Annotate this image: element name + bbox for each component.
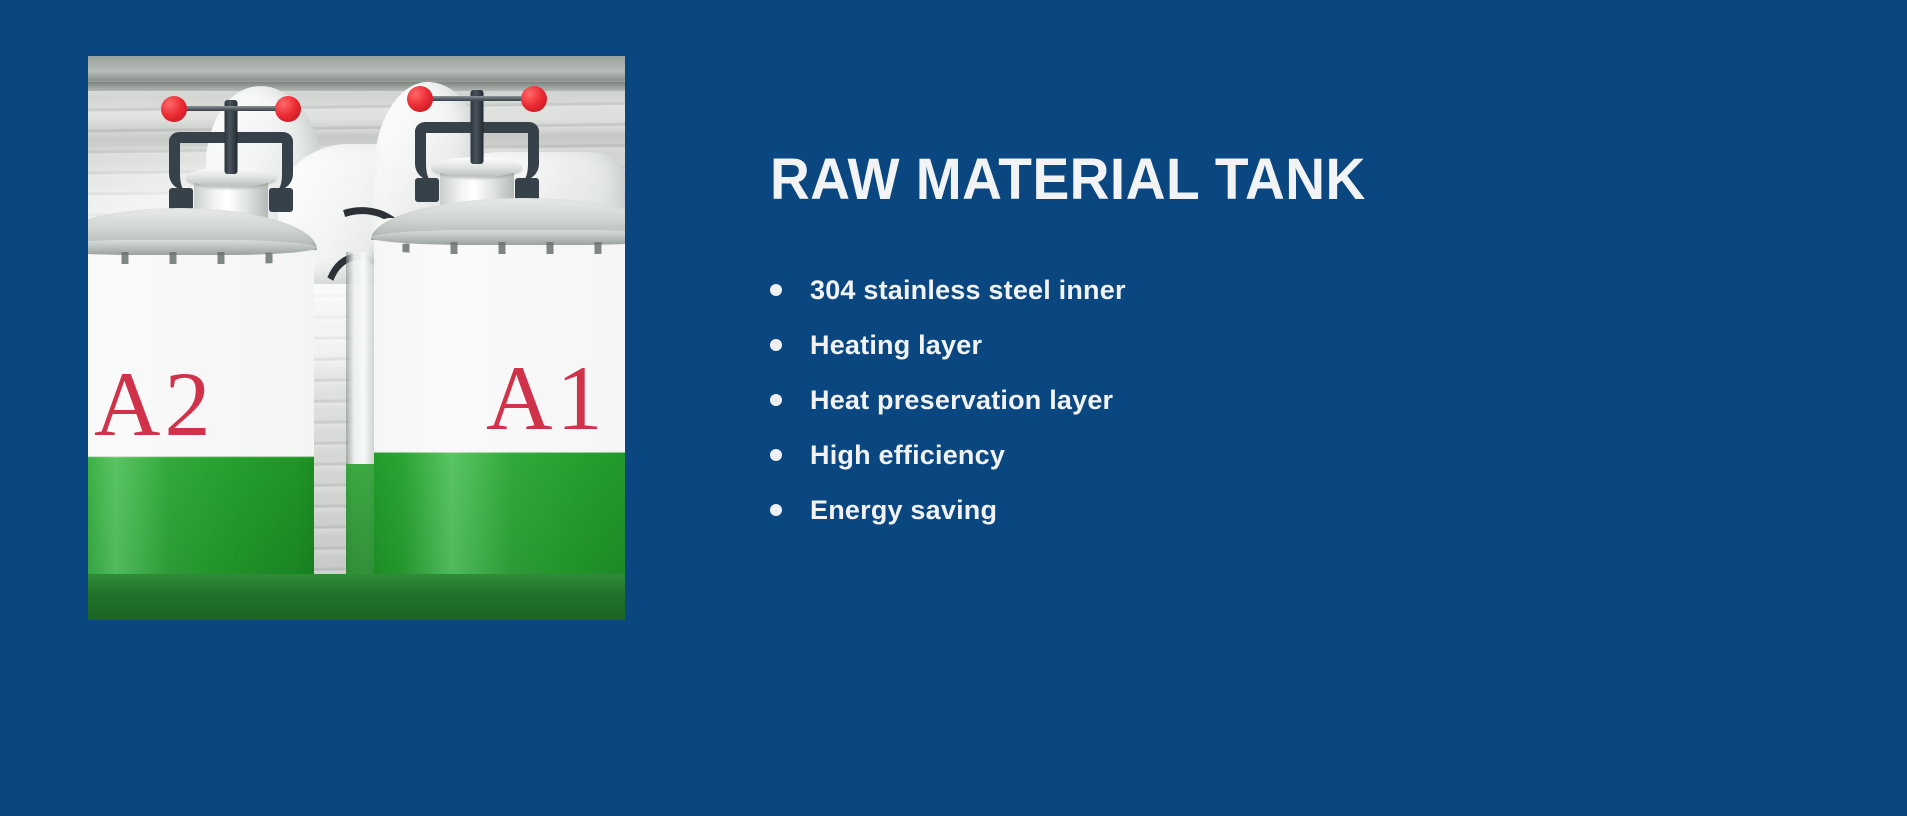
list-item: Energy saving xyxy=(770,483,1770,538)
feature-label: Heating layer xyxy=(810,330,982,361)
red-ball-handle xyxy=(275,96,301,122)
bullet-dot-icon xyxy=(770,284,782,296)
red-ball-handle xyxy=(521,86,547,112)
tank-a2-label: A2 xyxy=(94,358,214,450)
factory-floor xyxy=(88,574,625,620)
list-item: 304 stainless steel inner xyxy=(770,263,1770,318)
clamp-handle-bar xyxy=(422,96,532,101)
clamp-screw xyxy=(471,90,484,164)
feature-label: High efficiency xyxy=(810,440,1005,471)
bullet-dot-icon xyxy=(770,449,782,461)
feature-label: Heat preservation layer xyxy=(810,385,1113,416)
feature-label: Energy saving xyxy=(810,495,997,526)
bullet-dot-icon xyxy=(770,339,782,351)
red-ball-handle xyxy=(407,86,433,112)
clamp-handle-bar xyxy=(176,106,286,111)
tank-flange-bolts xyxy=(380,242,625,254)
bullet-dot-icon xyxy=(770,394,782,406)
feature-label: 304 stainless steel inner xyxy=(810,275,1126,306)
red-ball-handle xyxy=(161,96,187,122)
feature-list: 304 stainless steel inner Heating layer … xyxy=(770,263,1770,538)
content-panel: RAW MATERIAL TANK 304 stainless steel in… xyxy=(770,150,1770,538)
list-item: Heating layer xyxy=(770,318,1770,373)
page-title: RAW MATERIAL TANK xyxy=(770,150,1720,211)
ceiling-beam-shadow xyxy=(88,82,625,91)
product-photo: A2 A1 xyxy=(88,56,625,620)
tank-a2: A2 xyxy=(88,228,314,620)
clamp-screw xyxy=(225,100,238,174)
slide-canvas: A2 A1 RAW MATERIAL TANK xyxy=(0,0,1907,816)
list-item: Heat preservation layer xyxy=(770,373,1770,428)
tank-flange-bolts xyxy=(88,252,309,264)
list-item: High efficiency xyxy=(770,428,1770,483)
tank-a1: A1 xyxy=(374,218,625,620)
tank-a1-label: A1 xyxy=(486,352,606,444)
bullet-dot-icon xyxy=(770,504,782,516)
